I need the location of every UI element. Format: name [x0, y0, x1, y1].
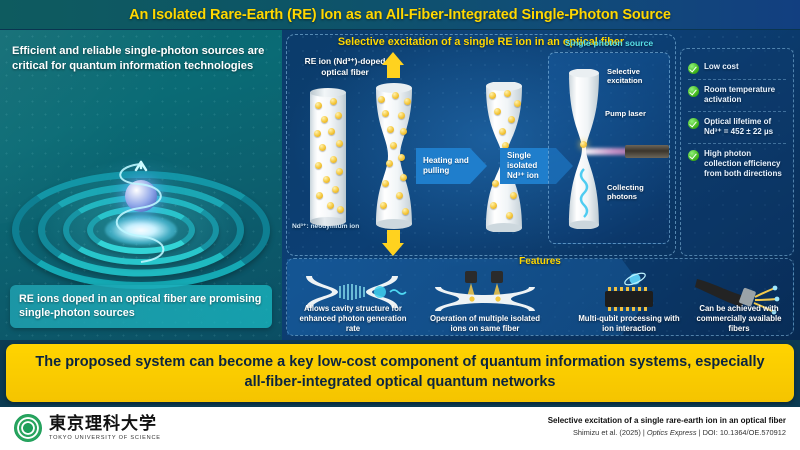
benefit-label: Low cost: [704, 62, 739, 74]
check-icon: [688, 118, 699, 129]
conclusion-banner: The proposed system can become a key low…: [6, 344, 794, 402]
sps-title: Single-photon source: [546, 38, 672, 48]
pull-arrow-down-head: [382, 243, 404, 256]
feature-2: Operation of multiple isolated ions on s…: [421, 271, 549, 337]
list-item: Low cost: [688, 57, 786, 79]
feature-caption: Can be achieved with commercially availa…: [687, 304, 791, 334]
list-item: High photon collection efficiency from b…: [688, 143, 786, 185]
feature-caption: Multi-qubit processing with ion interact…: [573, 314, 685, 334]
feature-4: Can be achieved with commercially availa…: [687, 271, 791, 337]
left-callout: RE ions doped in an optical fiber are pr…: [10, 285, 272, 328]
citation-journal: Optics Express: [647, 428, 697, 437]
citation-title: Selective excitation of a single rare-ea…: [548, 416, 786, 425]
pull-arrow-up-shaft: [387, 64, 400, 78]
feature-caption: Allows cavity structure for enhanced pho…: [293, 304, 413, 334]
pump-laser-icon: [625, 145, 669, 158]
pull-arrow-down-shaft: [387, 230, 400, 244]
qubit-chip-icon: [573, 271, 685, 313]
citation-sep-1: |: [643, 428, 645, 437]
infographic-root: An Isolated Rare-Earth (RE) Ion as an Al…: [0, 0, 800, 450]
single-photon-source-panel: Selective excitation Pump laser Collecti…: [548, 52, 670, 244]
pump-laser-label: Pump laser: [605, 109, 646, 118]
process-panel: Selective excitation of a single RE ion …: [282, 30, 800, 340]
conclusion-text: The proposed system can become a key low…: [6, 353, 794, 392]
globe-logo-icon: [14, 414, 42, 442]
left-illustration-panel: Efficient and reliable single-photon sou…: [0, 30, 282, 340]
check-icon: [688, 150, 699, 161]
list-item: Optical lifetime of Nd³⁺ = 452 ± 22 µs: [688, 111, 786, 143]
features-panel: Allows cavity structure for enhanced pho…: [286, 258, 794, 336]
title-bar: An Isolated Rare-Earth (RE) Ion as an Al…: [0, 0, 800, 30]
citation-sep-2: |: [699, 428, 701, 437]
benefit-label: Room temperature activation: [704, 85, 786, 106]
feature-caption: Operation of multiple isolated ions on s…: [421, 314, 549, 334]
list-item: Room temperature activation: [688, 79, 786, 111]
footer: 東京理科大学 TOKYO UNIVERSITY OF SCIENCE Selec…: [0, 405, 800, 450]
features-title: Features: [287, 256, 793, 267]
citation-doi: DOI: 10.1364/OE.570912: [703, 428, 786, 437]
benefits-list: Low cost Room temperature activation Opt…: [680, 48, 794, 256]
selective-excitation-label: Selective excitation: [607, 67, 669, 86]
heating-pulling-label: Heating and pulling: [416, 156, 470, 176]
logo-english-name: TOKYO UNIVERSITY OF SCIENCE: [49, 435, 161, 441]
feature-1: Allows cavity structure for enhanced pho…: [293, 271, 413, 337]
citation-source: Shimizu et al. (2025) | Optics Express |…: [548, 428, 786, 437]
benefit-label: High photon collection efficiency from b…: [704, 149, 786, 180]
pull-arrow-up-head: [382, 52, 404, 65]
feature-3: Multi-qubit processing with ion interact…: [573, 271, 685, 337]
university-logo: 東京理科大学 TOKYO UNIVERSITY OF SCIENCE: [14, 414, 161, 442]
fiber-cap-top: [310, 88, 346, 97]
intro-text: Efficient and reliable single-photon sou…: [12, 44, 270, 74]
citation: Selective excitation of a single rare-ea…: [548, 416, 786, 437]
fiber-cap-bottom: [310, 217, 346, 226]
multi-ion-fiber-icon: [421, 271, 549, 313]
logo-japanese-name: 東京理科大学: [49, 415, 161, 432]
fiber-stage-2: [370, 82, 418, 230]
page-title: An Isolated Rare-Earth (RE) Ion as an Al…: [129, 7, 671, 23]
check-icon: [688, 86, 699, 97]
benefit-label: Optical lifetime of Nd³⁺ = 452 ± 22 µs: [704, 117, 786, 138]
fiber-stage-1: [310, 92, 346, 222]
heating-pulling-arrow: Heating and pulling: [416, 148, 470, 184]
footer-divider: [0, 405, 800, 407]
citation-authors: Shimizu et al. (2025): [573, 428, 641, 437]
spiral-arrow-icon: [86, 156, 196, 276]
check-icon: [688, 63, 699, 74]
collecting-photons-label: Collecting photons: [607, 183, 669, 202]
